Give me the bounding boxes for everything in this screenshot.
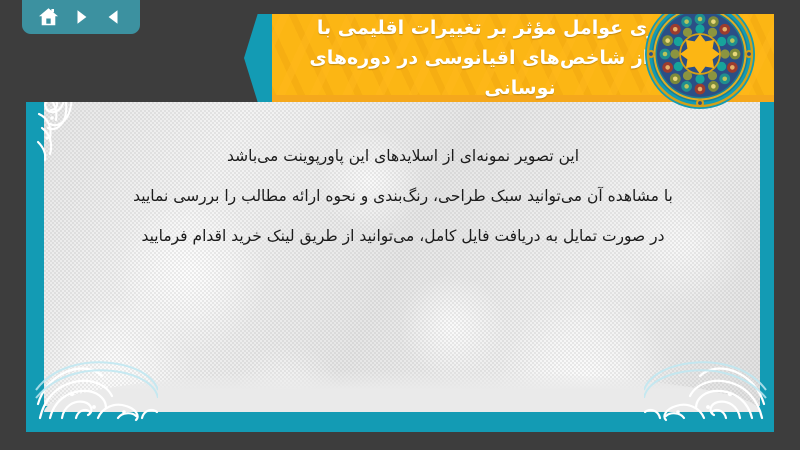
- slide-navigation-bar: [22, 0, 140, 34]
- body-line-3: در صورت تمایل به دریافت فایل کامل، می‌تو…: [66, 216, 740, 256]
- forward-button[interactable]: [68, 4, 94, 30]
- presentation-viewer: مدل‌سازی عوامل مؤثر بر تغییرات اقلیمی با…: [0, 0, 800, 450]
- banner-yellow-strip: [272, 14, 774, 102]
- body-line-1: این تصویر نمونه‌ای از اسلایدهای این پاور…: [66, 136, 740, 176]
- back-button[interactable]: [101, 4, 127, 30]
- banner-yellow-underline: [272, 95, 774, 102]
- home-button[interactable]: [35, 4, 61, 30]
- slide-border-bottom: [26, 406, 774, 432]
- forward-arrow-icon: [72, 8, 90, 26]
- slide-canvas: مدل‌سازی عوامل مؤثر بر تغییرات اقلیمی با…: [26, 14, 774, 432]
- home-icon: [38, 7, 59, 27]
- back-arrow-icon: [105, 8, 123, 26]
- body-line-2: با مشاهده آن می‌توانید سبک طراحی، رنگ‌بن…: [66, 176, 740, 216]
- slide-body-text: این تصویر نمونه‌ای از اسلایدهای این پاور…: [66, 136, 740, 256]
